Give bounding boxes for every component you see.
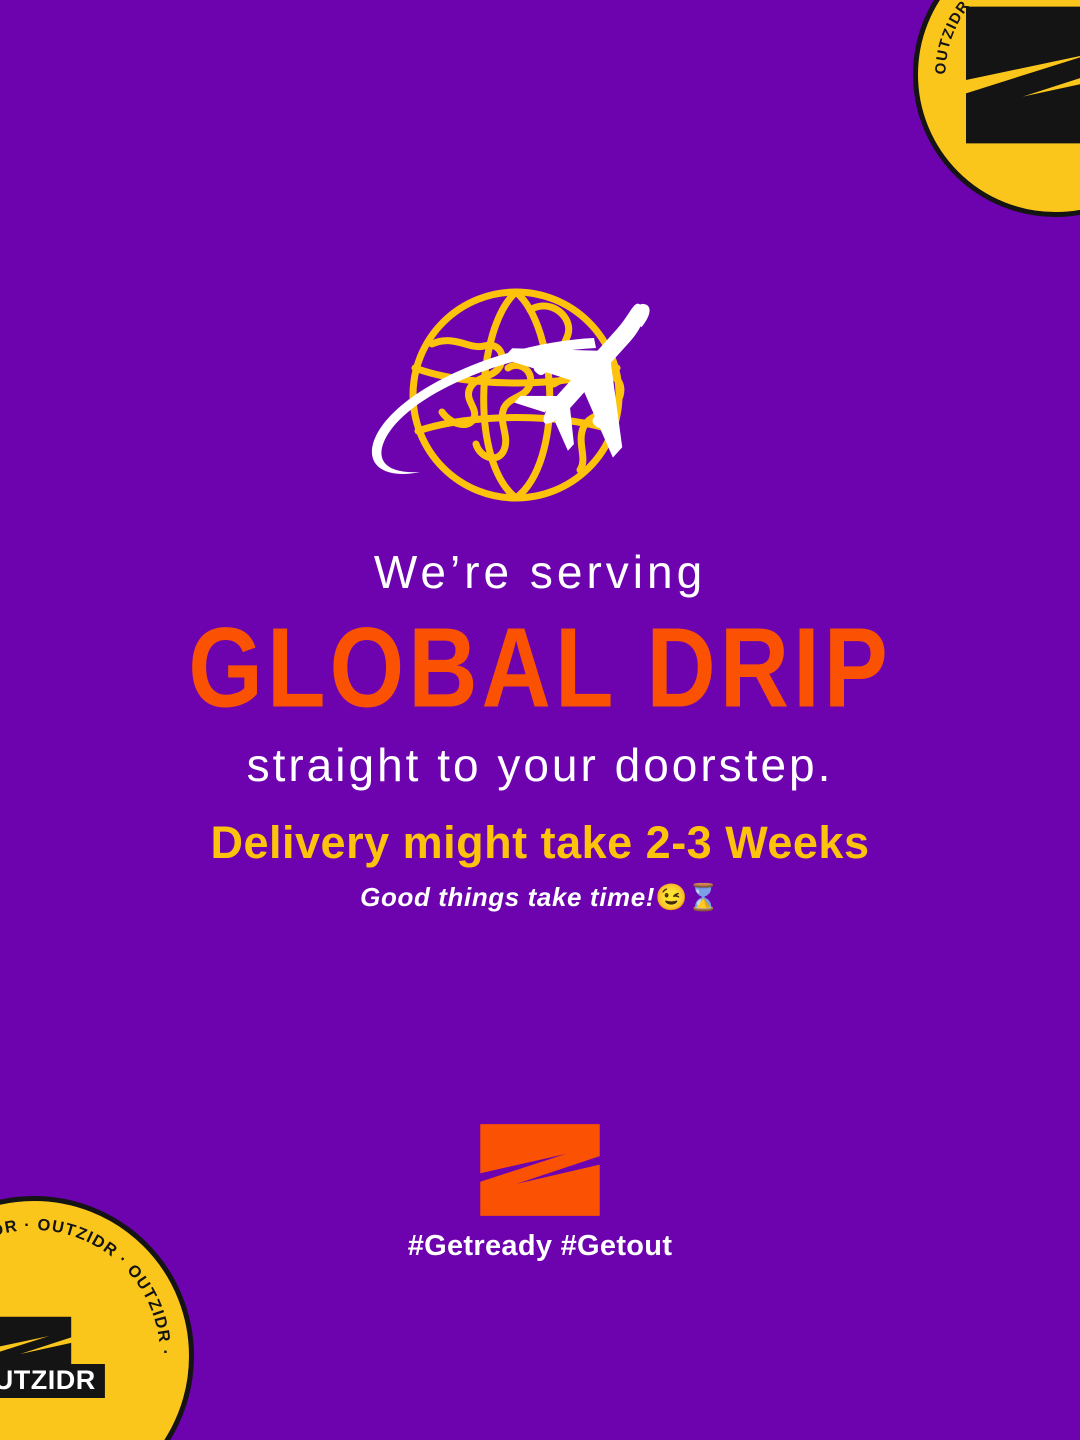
outzidr-z-logomark-icon [476, 1122, 604, 1218]
outzidr-sticker-badge-bottom-left: OUTZIDR · OUTZIDR · OUTZIDR · OUTZIDR · … [0, 1196, 194, 1440]
tagline-line-1: We’re serving [0, 548, 1080, 598]
badge-wordmark-bl: OUTZIDR [0, 1364, 105, 1398]
page-title: GLOBAL DRIP [0, 612, 1080, 725]
hashtag-text: #Getready #Getout [408, 1230, 673, 1263]
headline-copy-block: We’re serving GLOBAL DRIP straight to yo… [0, 548, 1080, 790]
tagline-line-3: straight to your doorstep. [0, 740, 1080, 791]
delivery-subnote-text: Good things take time! [360, 882, 655, 912]
badge-core-tr: OUTZIDR [954, 0, 1080, 150]
delivery-subnote: Good things take time!😉⌛ [0, 882, 1080, 913]
delivery-notice-block: Delivery might take 2-3 Weeks Good thing… [0, 818, 1080, 913]
z-logomark-icon [954, 0, 1080, 150]
badge-core-bl: OUTZIDR [0, 1314, 130, 1398]
delivery-estimate-text: Delivery might take 2-3 Weeks [0, 818, 1080, 868]
wink-hourglass-emoji: 😉⌛ [655, 882, 720, 912]
outzidr-sticker-badge-top-right: OUTZIDR · OUTZIDR · OUTZIDR · OUTZIDR · … [913, 0, 1080, 217]
globe-airplane-icon [358, 276, 718, 516]
promo-poster: OUTZIDR · OUTZIDR · OUTZIDR · OUTZIDR · … [0, 0, 1080, 1440]
